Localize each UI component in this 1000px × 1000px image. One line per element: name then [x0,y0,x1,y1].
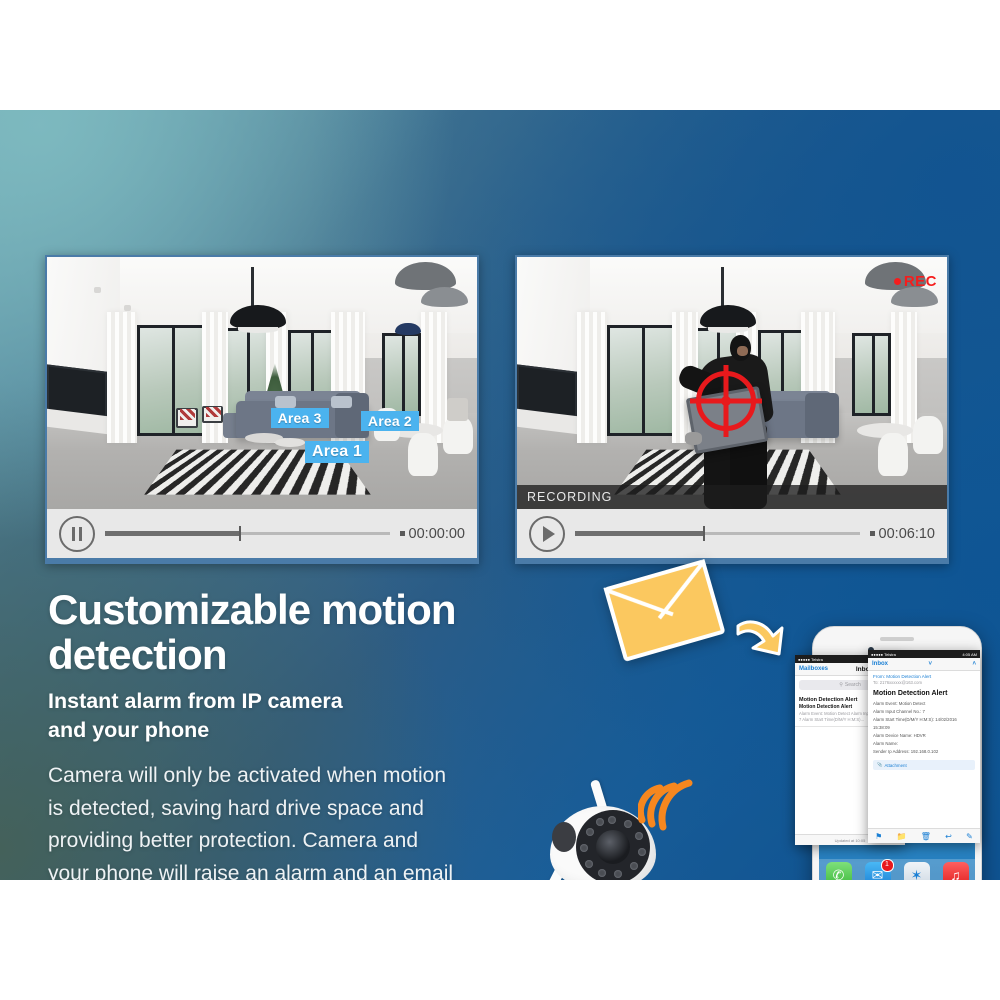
mail-detail-title: Motion Detection Alert [868,688,980,700]
window [607,325,676,436]
stop-icon [870,531,875,536]
ir-led [638,848,646,856]
mail-detail-navbar: Inbox ˅ ˄ [868,658,980,671]
progress-fill [575,531,703,536]
alert-line: Alarm Device Name: HDVR [868,732,980,740]
stop-icon [400,531,405,536]
trash-icon[interactable]: 🗑 [921,832,931,841]
envelope-flap [603,559,725,662]
progress-knob[interactable] [239,526,241,541]
lamp-cord [721,267,724,307]
camera-side-vent [552,822,576,852]
compose-icon[interactable]: ✎ [966,832,973,841]
chevron-down-icon[interactable]: ˄ [972,661,976,667]
progress-knob[interactable] [703,526,705,541]
search-placeholder: Search [845,682,861,688]
ir-led [614,870,622,878]
intruder-hand [685,432,702,444]
ir-led [585,860,593,868]
ceiling-spot [94,287,101,293]
alert-line: Alarm Input Channel No.: 7 [868,708,980,716]
attachment-icon: 📎 [877,762,882,768]
sofa-arm [805,393,839,438]
dock-app-safari[interactable]: ✶ Safari [904,862,930,880]
white-chair [913,416,943,454]
video-screen-recording: REC RECORDING [517,257,947,509]
ir-led [586,828,594,836]
page-title: Customizable motion detection [48,588,518,677]
subheading: Instant alarm from IP camera and your ph… [48,687,478,745]
phone-speaker [880,637,914,641]
record-dot-icon [894,278,901,285]
envelope-icon [603,559,725,662]
music-icon[interactable]: ♫ [943,862,969,880]
play-button[interactable] [529,516,565,552]
body-paragraph: Camera will only be activated when motio… [48,760,458,880]
alert-line: Alarm Name: [868,740,980,748]
rec-indicator: REC [894,273,937,290]
mail-from: From: Motion Detection Alert [868,671,980,679]
back-button[interactable]: Mailboxes [799,666,828,672]
search-icon: ⚲ [839,682,843,688]
player-controls-idle: 00:00:00 [47,509,477,558]
attachment-chip[interactable]: 📎 Attachment [873,760,975,770]
ir-led [630,862,638,870]
ir-led [580,844,588,852]
pillow [275,396,297,409]
progress-track[interactable] [105,532,390,535]
status-bar: ●●●●● Telstra 4:05 AM [868,650,980,658]
pillow [331,396,353,409]
phone-dock: ✆ Phone ✉ 1 Mail ✶ [819,859,975,880]
player-controls-recording: 00:06:10 [517,509,947,558]
area-tag-2: Area 2 [361,411,419,431]
poster-root: Area 3 Area 2 Area 1 00:00:00 [0,0,1000,1000]
progress-track[interactable] [575,532,860,535]
dining-chair [447,398,469,421]
video-screen-idle: Area 3 Area 2 Area 1 [47,257,477,509]
chevron-up-icon[interactable]: ˅ [928,661,932,667]
white-chair [878,433,908,476]
mail-toolbar: ⚑ 📁 🗑 ↩ ✎ [868,828,980,843]
recording-banner-label: RECORDING [517,490,612,504]
camera-lens [596,830,630,864]
pause-button[interactable] [59,516,95,552]
mail-to: To: 2176xxxxxx@163.com [868,679,980,688]
dock-app-phone[interactable]: ✆ Phone [826,862,852,880]
timestamp-value: 00:06:10 [879,526,935,542]
phone-glyph: ✆ [833,867,845,881]
safari-icon[interactable]: ✶ [904,862,930,880]
area-tag-1: Area 1 [305,441,369,463]
area-tag-3: Area 3 [271,408,329,428]
folder-icon[interactable]: 📁 [897,832,907,841]
lamp-cord [251,267,254,307]
mail-badge: 1 [881,859,894,872]
intruder-figure [668,335,810,509]
white-chair [408,433,438,476]
content-panel: Area 3 Area 2 Area 1 00:00:00 [0,110,1000,880]
timestamp-idle: 00:00:00 [400,526,465,542]
alert-line: Alarm Start Time(D/M/Y H:M:S): 14/02/201… [868,716,980,724]
music-glyph: ♫ [950,867,961,880]
alert-line: 15:38:09 [868,724,980,732]
carrier-label: ●●●●● Telstra [798,657,823,662]
reply-icon[interactable]: ↩ [945,832,952,841]
mail-detail-screenshot[interactable]: ●●●●● Telstra 4:05 AM Inbox ˅ ˄ From: Mo… [868,650,980,843]
living-room-scene [47,257,477,509]
progress-fill [105,531,239,536]
pause-icon [72,527,83,541]
ir-led [635,832,643,840]
window [852,333,891,416]
dock-app-music[interactable]: ♫ Music [943,862,969,880]
timestamp-value: 00:00:00 [409,526,465,542]
plaid-cushion [180,409,195,419]
safari-glyph: ✶ [911,867,923,881]
clock-label: 4:05 AM [962,652,977,657]
dock-app-mail[interactable]: ✉ 1 Mail [865,862,891,880]
attachment-label: Attachment [884,763,906,768]
carrier-label: ●●●●● Telstra [871,652,896,657]
alert-line: Sender Ip Address: 192.168.0.102 [868,748,980,756]
ceiling-spot [124,305,131,311]
phone-icon[interactable]: ✆ [826,862,852,880]
ir-led [624,820,632,828]
curved-arrow-icon [735,610,787,658]
play-icon [543,526,555,542]
mail-icon[interactable]: ✉ 1 [865,862,891,880]
intruder-face [737,346,748,356]
rec-label: REC [904,273,937,290]
wifi-waves-icon [638,776,698,832]
flag-icon[interactable]: ⚑ [875,832,882,841]
white-chair [443,416,473,454]
ir-led [608,816,616,824]
timestamp-recording: 00:06:10 [870,526,935,542]
recording-banner: RECORDING [517,485,947,509]
back-button[interactable]: Inbox [872,661,888,667]
alert-line: Alarm Event: Motion Detect [868,700,980,708]
curtain [577,312,607,443]
window [382,333,421,416]
ir-led [596,818,604,826]
ir-led [598,869,606,877]
plaid-cushion [206,407,221,417]
curtain [107,312,137,443]
video-player-recording[interactable]: REC RECORDING 00:06:10 [515,255,949,564]
video-player-idle[interactable]: Area 3 Area 2 Area 1 00:00:00 [45,255,479,564]
ip-camera [510,770,700,880]
